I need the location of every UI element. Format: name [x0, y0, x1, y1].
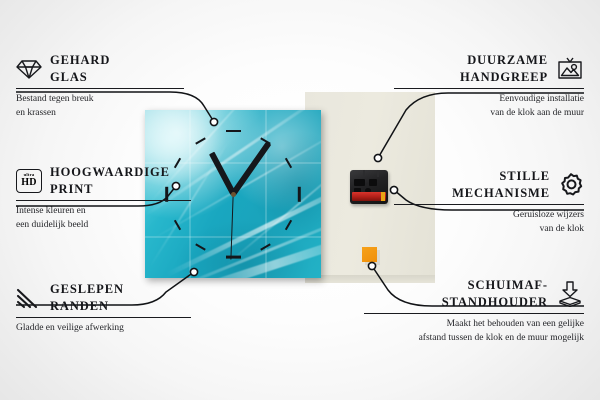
feature-description: Bestand tegen breuken krassen — [16, 93, 184, 121]
feature-description: Eenvoudige installatievan de klok aan de… — [394, 93, 584, 121]
feature-divider — [16, 317, 191, 318]
feature-description: Maakt het behouden van een gelijkeafstan… — [364, 318, 584, 346]
feature-title: STILLEMECHANISME — [452, 168, 550, 201]
feature-description: Geruisloze wijzersvan de klok — [394, 209, 584, 237]
feature-stille-mechanisme: STILLEMECHANISME Geruisloze wijzersvan d… — [394, 168, 584, 237]
feature-duurzame-handgreep: DUURZAMEHANDGREEP Eenvoudige installatie… — [394, 52, 584, 121]
connector-dot-standhouder — [368, 262, 375, 269]
picture-frame-icon — [556, 57, 584, 81]
feature-description: Intense kleuren eneen duidelijk beeld — [16, 205, 191, 233]
feature-title: GESLEPENRANDEN — [50, 281, 124, 314]
feature-header: DUURZAMEHANDGREEP — [394, 52, 584, 85]
feature-divider — [364, 313, 584, 314]
feature-divider — [16, 88, 184, 89]
feature-geslepen-randen: GESLEPENRANDEN Gladde en veilige afwerki… — [16, 281, 191, 336]
connector-dot-gehard-glas — [210, 118, 217, 125]
feature-divider — [16, 200, 191, 201]
feature-header: GESLEPENRANDEN — [16, 281, 191, 314]
feature-title: HOOGWAARDIGEPRINT — [50, 164, 170, 197]
feature-header: GEHARDGLAS — [16, 52, 184, 85]
connector-dot-randen — [190, 268, 197, 275]
ultra-hd-large-text: HD — [21, 178, 36, 188]
diamond-icon — [16, 58, 42, 80]
feature-gehard-glas: GEHARDGLAS Bestand tegen breuken krassen — [16, 52, 184, 121]
feature-header: ultra HD HOOGWAARDIGEPRINT — [16, 164, 191, 197]
feature-title: SCHUIMAF-STANDHOUDER — [442, 277, 548, 310]
feature-title: GEHARDGLAS — [50, 52, 110, 85]
feature-hoogwaardige-print: ultra HD HOOGWAARDIGEPRINT Intense kleur… — [16, 164, 191, 233]
feature-header: SCHUIMAF-STANDHOUDER — [364, 277, 584, 310]
connector-dot-handgreep — [374, 154, 381, 161]
ultra-hd-icon: ultra HD — [16, 169, 42, 193]
foam-holder-icon — [556, 281, 584, 307]
feature-divider — [394, 204, 584, 205]
feature-title: DUURZAMEHANDGREEP — [460, 52, 548, 85]
feature-description: Gladde en veilige afwerking — [16, 322, 191, 336]
feature-header: STILLEMECHANISME — [394, 168, 584, 201]
feature-divider — [394, 88, 584, 89]
beveled-edges-icon — [16, 287, 42, 309]
infographic-canvas: GEHARDGLAS Bestand tegen breuken krassen… — [0, 0, 600, 400]
gear-icon — [558, 172, 584, 198]
feature-schuimafstandhouder: SCHUIMAF-STANDHOUDER Maakt het behouden … — [364, 277, 584, 346]
